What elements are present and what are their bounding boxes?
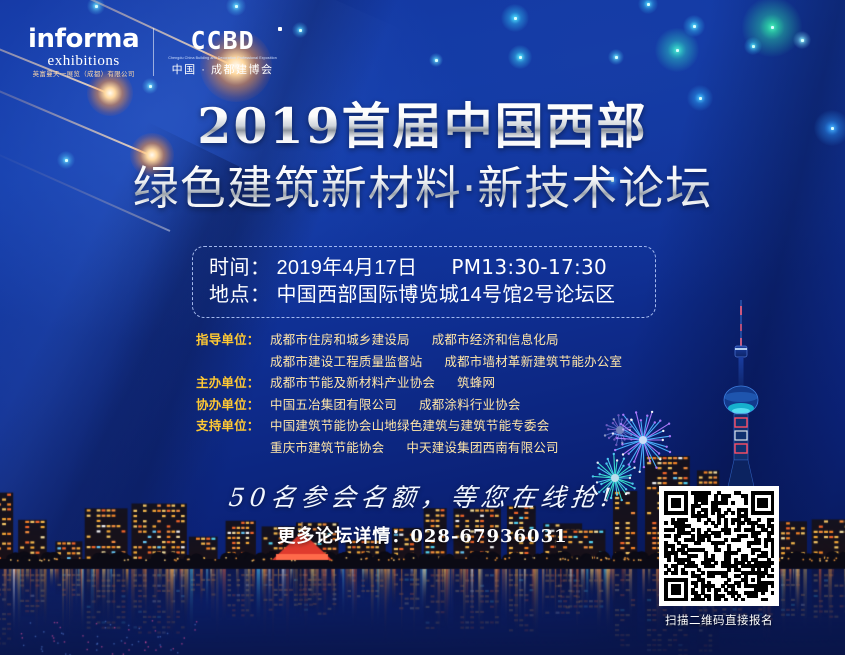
ccbd-chinese-name: 中国 · 成都建博会 [172,65,274,76]
page-title-line1: 2019首届中国西部 [197,100,647,154]
particle-core [519,56,522,59]
particle-core [801,39,804,42]
glow-particle-icon [655,28,699,72]
glow-particle-icon [87,0,105,15]
glow-particle-icon [226,0,246,16]
organiser-label: 协办单位： [196,395,270,417]
organiser-row: 协办单位：中国五冶集团有限公司成都涂料行业协会 [196,395,666,417]
organiser-values: 中国五冶集团有限公司成都涂料行业协会 [270,395,521,417]
organiser-value: 成都市节能及新材料产业协会 [270,376,435,390]
qr-code-icon[interactable] [659,486,779,606]
organiser-row: 重庆市建筑节能协会中天建设集团西南有限公司 [196,438,666,460]
organiser-label: 支持单位： [196,416,270,438]
organiser-value: 成都涂料行业协会 [419,398,521,412]
particle-core [514,17,517,20]
organiser-values: 成都市住房和城乡建设局成都市经济和信息化局 [270,330,559,352]
qr-registration-block[interactable]: 扫描二维码直接报名 [659,486,779,628]
glow-particle-icon [429,53,443,67]
event-info-value: 2019年4月17日 [277,255,418,282]
organiser-value: 成都市住房和城乡建设局 [270,333,410,347]
organiser-value: 中国五冶集团有限公司 [270,398,397,412]
particle-core [615,56,618,59]
particle-core [95,5,98,8]
particle-core [771,26,774,29]
informa-logo: informa exhibitions 英富曼天一展览（成都）有限公司 [28,26,139,79]
organiser-row: 指导单位：成都市住房和城乡建设局成都市经济和信息化局 [196,330,666,352]
informa-subtitle: exhibitions [48,54,120,69]
organiser-label: 指导单位： [196,330,270,352]
glow-particle-icon [742,0,802,57]
particle-core [149,85,152,88]
organiser-values: 成都市建设工程质量监督站成都市墙材革新建筑节能办公室 [270,352,622,374]
particle-core [299,29,302,32]
event-info-row: 时间：2019年4月17日PM13:30-17:30 [209,254,639,282]
organiser-value: 成都市墙材革新建筑节能办公室 [444,355,622,369]
poster-canvas: informa exhibitions 英富曼天一展览（成都）有限公司 CCBD… [0,0,845,655]
event-info-row: 地点：中国西部国际博览城14号馆2号论坛区 [209,282,639,309]
title-block: 2019首届中国西部 绿色建筑新材料·新技术论坛 [0,100,845,215]
glow-particle-icon [501,4,529,32]
glow-particle-icon [142,78,158,94]
logo-divider [153,28,154,76]
particle-core [435,59,438,62]
organiser-label: 主办单位： [196,373,270,395]
particle-core [752,45,755,48]
organiser-value: 中天建设集团西南有限公司 [406,441,558,455]
qr-code-matrix[interactable] [664,491,774,601]
glow-particle-icon [508,45,532,69]
organiser-value: 筑蜂网 [457,376,495,390]
event-info-label: 时间： [209,255,271,282]
informa-wordmark: informa [28,26,139,52]
organiser-value: 重庆市建筑节能协会 [270,441,384,455]
qr-caption: 扫描二维码直接报名 [659,612,779,628]
informa-chinese-name: 英富曼天一展览（成都）有限公司 [33,72,135,79]
organiser-value: 中国建筑节能协会山地绿色建筑与建筑节能专委会 [270,419,549,433]
event-info-value: 中国西部国际博览城14号馆2号论坛区 [277,282,616,309]
organiser-row: 主办单位：成都市节能及新材料产业协会筑蜂网 [196,373,666,395]
organiser-values: 成都市节能及新材料产业协会筑蜂网 [270,373,495,395]
particle-core [647,3,650,6]
promo-headline: 50名参会名额，等您在线抢! [227,478,618,514]
logo-bar: informa exhibitions 英富曼天一展览（成都）有限公司 CCBD… [28,26,277,79]
glow-particle-icon [638,0,658,14]
ccbd-english-name: Chengdu China Building and Decoration Pr… [168,56,277,61]
organiser-row: 支持单位：中国建筑节能协会山地绿色建筑与建筑节能专委会 [196,416,666,438]
event-info-box: 时间：2019年4月17日PM13:30-17:30地点：中国西部国际博览城14… [192,246,656,318]
glow-particle-icon [744,37,762,55]
particle-core [693,25,696,28]
event-info-value-secondary: PM13:30-17:30 [451,254,607,281]
organiser-list: 指导单位：成都市住房和城乡建设局成都市经济和信息化局成都市建设工程质量监督站成都… [196,330,666,459]
particle-core [676,49,679,52]
organiser-values: 重庆市建筑节能协会中天建设集团西南有限公司 [270,438,559,460]
ccbd-wordmark: CCBD [190,28,254,53]
particle-core [235,5,238,8]
event-info-label: 地点： [209,282,271,309]
glow-particle-icon [793,31,811,49]
ccbd-logo: CCBD Chengdu China Building and Decorati… [168,28,277,76]
organiser-value: 成都市建设工程质量监督站 [270,355,422,369]
glow-particle-icon [292,22,308,38]
page-title-line2: 绿色建筑新材料·新技术论坛 [133,162,713,215]
organiser-value: 成都市经济和信息化局 [432,333,559,347]
ccbd-dot-accent [278,27,282,31]
glow-particle-icon [683,15,705,37]
glow-particle-icon [608,49,624,65]
organiser-values: 中国建筑节能协会山地绿色建筑与建筑节能专委会 [270,416,549,438]
organiser-row: 成都市建设工程质量监督站成都市墙材革新建筑节能办公室 [196,352,666,374]
